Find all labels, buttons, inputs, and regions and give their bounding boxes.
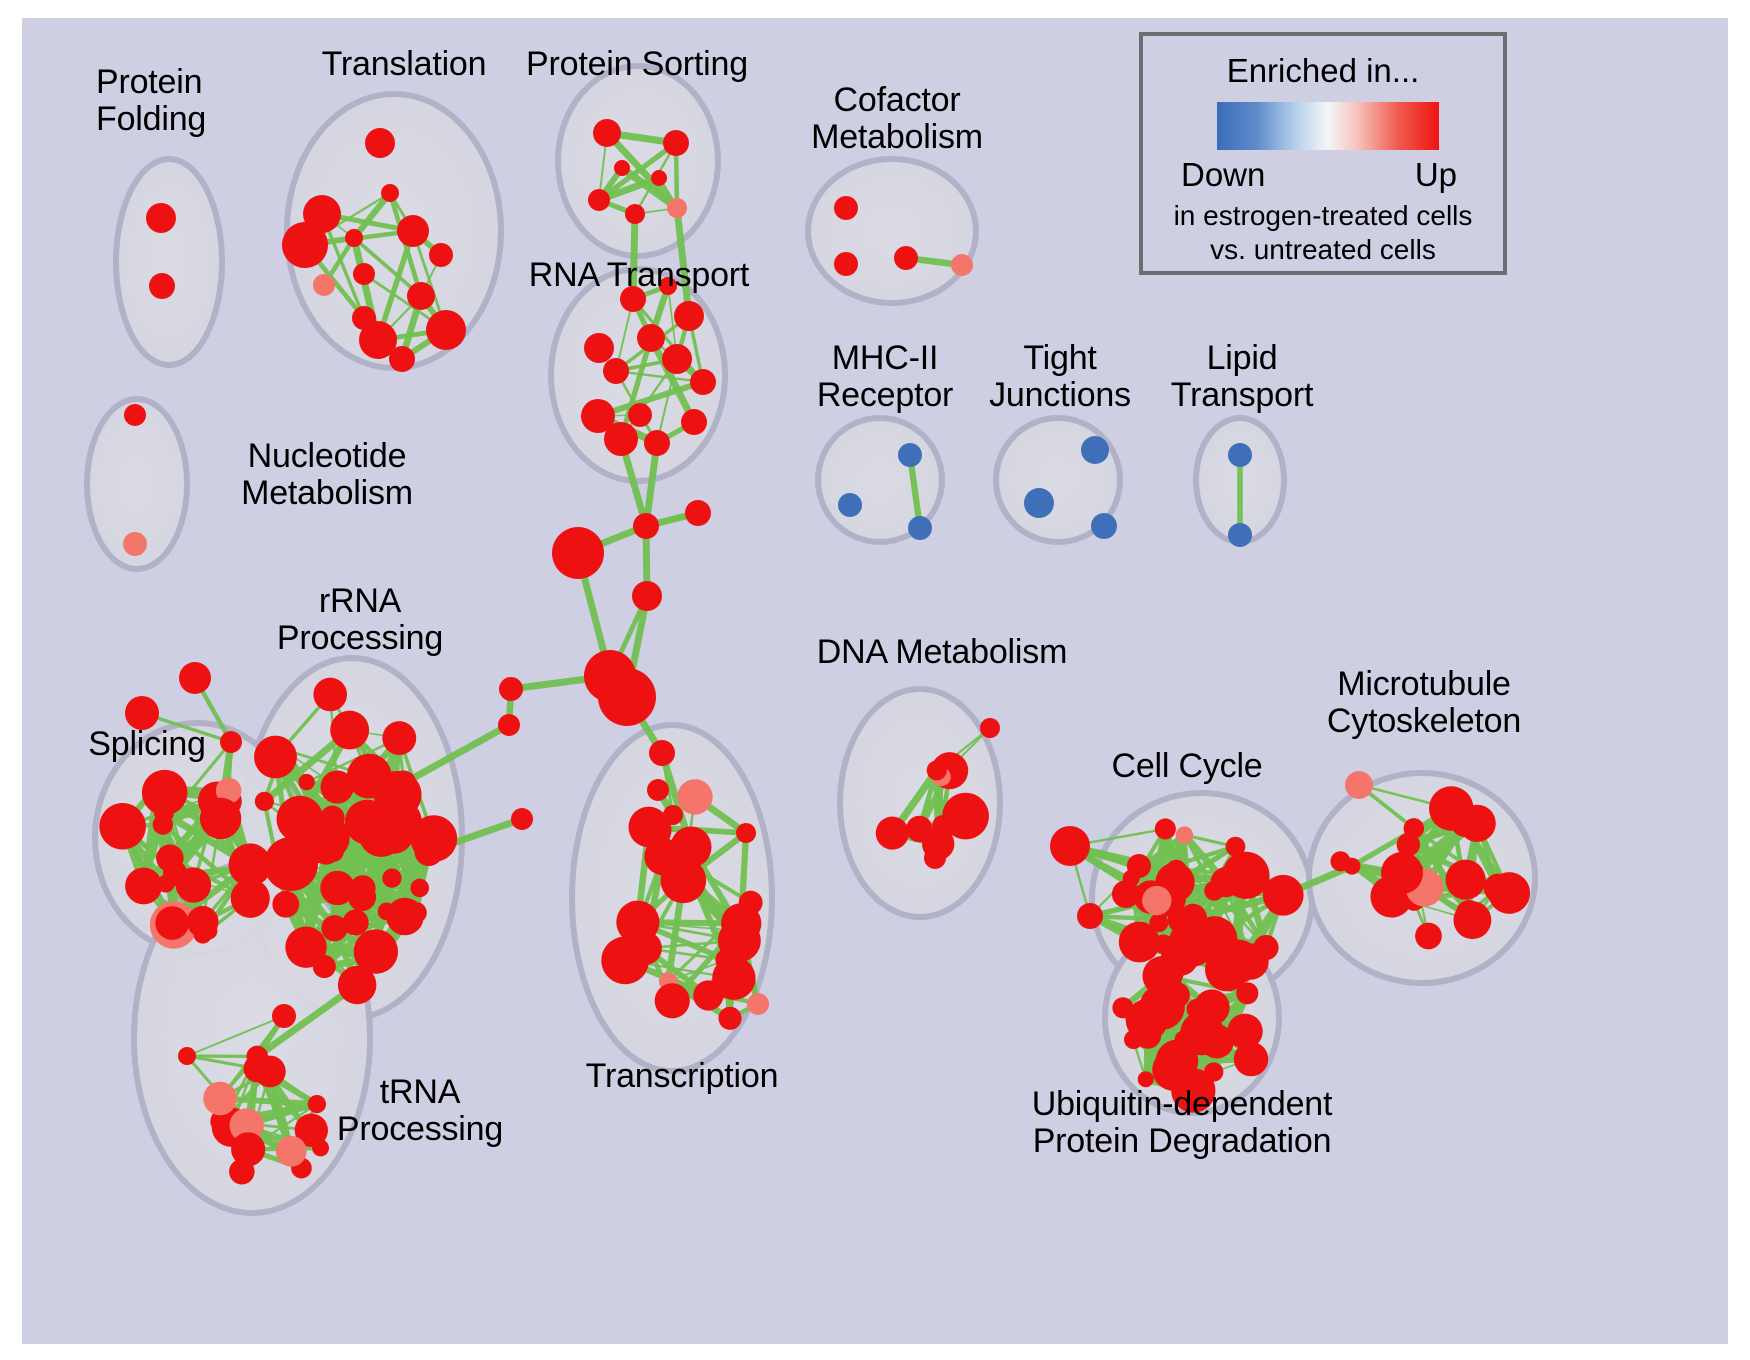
label-lipid-transport: Lipid Transport — [1152, 340, 1332, 413]
label-ubiquitin-protein-degradation: Ubiquitin-dependent Protein Degradation — [972, 1086, 1392, 1159]
network-node[interactable] — [601, 937, 649, 985]
network-node[interactable] — [1050, 826, 1090, 866]
legend-box: Enriched in... Down Up in estrogen-treat… — [1139, 32, 1507, 275]
network-node[interactable] — [272, 1004, 296, 1028]
network-node[interactable] — [321, 915, 347, 941]
network-node[interactable] — [747, 993, 769, 1015]
network-node[interactable] — [382, 721, 416, 755]
network-node[interactable] — [254, 736, 297, 779]
network-node[interactable] — [834, 196, 858, 220]
cluster-halo-cofactor-metabolism — [808, 159, 976, 303]
cluster-halo-protein-folding — [116, 159, 222, 365]
network-node[interactable] — [603, 358, 629, 384]
network-node[interactable] — [663, 130, 689, 156]
network-node[interactable] — [662, 344, 692, 374]
network-node[interactable] — [1024, 488, 1054, 518]
network-node[interactable] — [625, 204, 645, 224]
network-node[interactable] — [1155, 818, 1176, 839]
network-node[interactable] — [125, 867, 162, 904]
network-node[interactable] — [1081, 436, 1109, 464]
network-node[interactable] — [1091, 513, 1117, 539]
network-node[interactable] — [552, 527, 604, 579]
network-node[interactable] — [1175, 1031, 1193, 1049]
network-node[interactable] — [690, 369, 716, 395]
network-node[interactable] — [838, 493, 862, 517]
network-node[interactable] — [1484, 874, 1513, 903]
network-node[interactable] — [179, 662, 211, 694]
network-node[interactable] — [146, 203, 176, 233]
network-node[interactable] — [651, 170, 667, 186]
network-node[interactable] — [593, 119, 621, 147]
label-splicing: Splicing — [62, 726, 232, 763]
network-node[interactable] — [898, 443, 922, 467]
network-node[interactable] — [1345, 771, 1373, 799]
network-node[interactable] — [894, 246, 918, 270]
network-node[interactable] — [1200, 1024, 1234, 1058]
network-node[interactable] — [255, 792, 274, 811]
network-node[interactable] — [276, 1136, 307, 1167]
network-node[interactable] — [942, 793, 989, 840]
network-node[interactable] — [298, 774, 314, 790]
network-node[interactable] — [1124, 1030, 1143, 1049]
network-node[interactable] — [176, 867, 211, 902]
figure-canvas: Protein Folding Translation Protein Sort… — [0, 0, 1750, 1360]
network-node[interactable] — [313, 274, 335, 296]
network-node[interactable] — [429, 243, 453, 267]
network-node[interactable] — [320, 806, 345, 831]
network-node[interactable] — [410, 879, 429, 898]
network-node[interactable] — [426, 310, 466, 350]
network-node[interactable] — [1127, 854, 1151, 878]
network-node[interactable] — [906, 816, 932, 842]
network-node[interactable] — [338, 966, 377, 1005]
network-node[interactable] — [604, 422, 638, 456]
network-node[interactable] — [1456, 900, 1482, 926]
network-node[interactable] — [644, 430, 670, 456]
network-node[interactable] — [1226, 837, 1246, 857]
label-protein-folding: Protein Folding — [96, 64, 276, 137]
network-node[interactable] — [1234, 1042, 1268, 1076]
network-node[interactable] — [924, 847, 946, 869]
network-node[interactable] — [834, 252, 858, 276]
label-mhc-ii-receptor: MHC-II Receptor — [790, 340, 980, 413]
network-node[interactable] — [149, 273, 175, 299]
legend-up-label: Up — [1415, 156, 1457, 194]
network-node[interactable] — [264, 837, 318, 891]
label-rna-transport: RNA Transport — [514, 257, 764, 294]
legend-title: Enriched in... — [1143, 52, 1503, 90]
network-node[interactable] — [511, 808, 533, 830]
network-node[interactable] — [365, 128, 395, 158]
network-node[interactable] — [876, 817, 909, 850]
label-transcription: Transcription — [562, 1058, 802, 1095]
network-node[interactable] — [187, 906, 219, 938]
network-node[interactable] — [635, 812, 671, 848]
network-node[interactable] — [389, 346, 415, 372]
network-node[interactable] — [254, 1056, 286, 1088]
network-node[interactable] — [1194, 989, 1230, 1025]
network-node[interactable] — [647, 779, 669, 801]
network-node[interactable] — [1112, 880, 1140, 908]
network-node[interactable] — [378, 902, 396, 920]
network-node[interactable] — [1119, 922, 1160, 963]
label-tight-junctions: Tight Junctions — [970, 340, 1150, 413]
network-node[interactable] — [1446, 860, 1486, 900]
network-node[interactable] — [345, 229, 363, 247]
legend-subtitle: in estrogen-treated cells vs. untreated … — [1143, 199, 1503, 267]
network-node[interactable] — [1077, 903, 1103, 929]
network-node[interactable] — [1139, 985, 1184, 1030]
network-node[interactable] — [1176, 826, 1193, 843]
network-node[interactable] — [382, 869, 401, 888]
label-trna-processing: tRNA Processing — [310, 1074, 530, 1147]
network-node[interactable] — [1228, 523, 1252, 547]
network-node[interactable] — [272, 891, 299, 918]
network-node[interactable] — [499, 677, 523, 701]
network-node[interactable] — [588, 189, 610, 211]
network-node[interactable] — [721, 903, 761, 943]
network-node[interactable] — [633, 513, 659, 539]
network-node[interactable] — [282, 222, 328, 268]
network-node[interactable] — [1236, 982, 1258, 1004]
network-node[interactable] — [685, 500, 711, 526]
legend-color-bar — [1217, 102, 1439, 150]
label-microtubule-cytoskeleton: Microtubule Cytoskeleton — [1294, 666, 1554, 739]
network-node[interactable] — [1263, 875, 1304, 916]
network-node[interactable] — [1211, 867, 1241, 897]
network-node[interactable] — [655, 983, 690, 1018]
network-node[interactable] — [1330, 851, 1350, 871]
network-node[interactable] — [718, 1007, 741, 1030]
network-node[interactable] — [1157, 960, 1183, 986]
network-node[interactable] — [498, 714, 520, 736]
network-node[interactable] — [677, 854, 695, 872]
network-node[interactable] — [178, 1047, 196, 1065]
network-node[interactable] — [677, 779, 712, 814]
network-node[interactable] — [667, 198, 687, 218]
network-node[interactable] — [1142, 886, 1171, 915]
label-protein-sorting: Protein Sorting — [512, 46, 762, 83]
network-node[interactable] — [200, 798, 241, 839]
network-node[interactable] — [348, 883, 376, 911]
network-node[interactable] — [123, 532, 147, 556]
network-node[interactable] — [736, 823, 756, 843]
label-cell-cycle: Cell Cycle — [1087, 748, 1287, 785]
network-node[interactable] — [274, 741, 291, 758]
network-node[interactable] — [1112, 997, 1133, 1018]
network-node[interactable] — [927, 760, 947, 780]
label-rrna-processing: rRNA Processing — [260, 583, 460, 656]
network-node[interactable] — [321, 770, 354, 803]
network-plot-area: Protein Folding Translation Protein Sort… — [22, 18, 1728, 1344]
network-node[interactable] — [231, 1132, 265, 1166]
network-node[interactable] — [1179, 904, 1207, 932]
network-node[interactable] — [397, 215, 429, 247]
network-node[interactable] — [908, 516, 932, 540]
network-node[interactable] — [616, 901, 659, 944]
network-node[interactable] — [407, 282, 435, 310]
network-node[interactable] — [674, 301, 704, 331]
legend-subtitle-line2: vs. untreated cells — [1143, 233, 1503, 267]
label-translation: Translation — [294, 46, 514, 83]
network-node[interactable] — [353, 263, 375, 285]
network-node[interactable] — [313, 678, 347, 712]
network-node[interactable] — [1415, 923, 1442, 950]
label-nucleotide-metabolism: Nucleotide Metabolism — [207, 438, 447, 511]
network-node[interactable] — [951, 254, 973, 276]
legend-down-label: Down — [1181, 156, 1265, 194]
network-node[interactable] — [649, 740, 675, 766]
network-node[interactable] — [124, 404, 146, 426]
network-node[interactable] — [628, 403, 652, 427]
network-node[interactable] — [155, 906, 189, 940]
network-node[interactable] — [154, 803, 174, 823]
label-cofactor-metabolism: Cofactor Metabolism — [782, 82, 1012, 155]
label-dna-metabolism: DNA Metabolism — [797, 634, 1087, 671]
network-node[interactable] — [584, 333, 614, 363]
legend-subtitle-line1: in estrogen-treated cells — [1143, 199, 1503, 233]
network-node[interactable] — [285, 926, 326, 967]
network-node[interactable] — [637, 324, 665, 352]
network-node[interactable] — [632, 581, 662, 611]
network-node[interactable] — [203, 1082, 237, 1116]
network-node[interactable] — [1451, 809, 1479, 837]
network-node[interactable] — [1156, 1040, 1199, 1083]
network-node[interactable] — [391, 806, 419, 834]
network-node[interactable] — [1228, 443, 1252, 467]
network-node[interactable] — [99, 803, 146, 850]
network-node[interactable] — [1253, 935, 1278, 960]
network-node[interactable] — [1381, 852, 1423, 894]
network-node[interactable] — [614, 160, 630, 176]
network-node[interactable] — [330, 711, 369, 750]
network-node[interactable] — [980, 718, 1000, 738]
network-node[interactable] — [381, 184, 399, 202]
network-node[interactable] — [598, 668, 656, 726]
network-node[interactable] — [681, 409, 707, 435]
